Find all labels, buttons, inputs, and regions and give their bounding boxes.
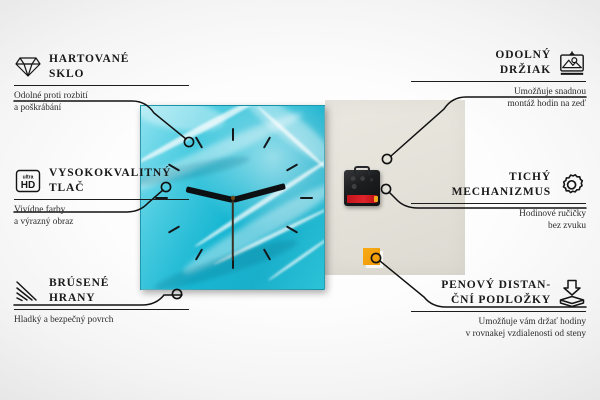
divider	[14, 309, 189, 310]
feature-title-wrap: HARTOVANÉ SKLO	[49, 52, 189, 81]
infographic-canvas: HARTOVANÉ SKLO Odolné proti rozbití a po…	[0, 0, 600, 400]
picture-hanger-icon	[558, 49, 586, 77]
feature-polished-edges: BRÚSENÉ HRANY Hladký a bezpečný povrch	[14, 276, 189, 326]
feature-title-line-1: ODOLNÝ	[411, 48, 551, 63]
feature-title-line-2: MECHANIZMUS	[411, 185, 551, 200]
feature-foam-spacers: PENOVÝ DISTAN- ČNÍ PODLOŽKY Umožňuje vám…	[411, 278, 586, 340]
feature-subtitle-line-2: montáž hodin na zeď	[411, 98, 586, 110]
feature-subtitle-line-1: Hladký a bezpečný povrch	[14, 314, 189, 326]
divider	[411, 81, 586, 82]
feature-title-line-2: DRŽIAK	[411, 63, 551, 78]
feature-subtitle-line-2: a výrazný obraz	[14, 216, 189, 228]
divider	[411, 311, 586, 312]
feature-title-wrap: BRÚSENÉ HRANY	[49, 276, 189, 305]
feature-subtitle-line-2: a poškrábání	[14, 102, 189, 114]
feature-title-line-1: BRÚSENÉ	[49, 276, 189, 291]
feature-title-line-1: HARTOVANÉ	[49, 52, 189, 67]
feature-subtitle-line-2: v rovnakej vzdialenosti od steny	[411, 328, 586, 340]
feature-title-line-2: ČNÍ PODLOŽKY	[411, 293, 551, 308]
feature-header: PENOVÝ DISTAN- ČNÍ PODLOŽKY	[411, 278, 586, 307]
divider	[14, 85, 189, 86]
feature-subtitle-line-1: Hodinové ručičky	[411, 208, 586, 220]
feature-header: BRÚSENÉ HRANY	[14, 276, 189, 305]
ultra-hd-large-text: HD	[21, 180, 35, 191]
feature-title-line-2: SKLO	[49, 67, 189, 82]
feature-title-line-2: TLAČ	[49, 181, 189, 196]
feature-title-line-1: PENOVÝ DISTAN-	[411, 278, 551, 293]
feature-subtitle-line-1: Odolné proti rozbití	[14, 90, 189, 102]
feature-title-line-2: HRANY	[49, 291, 189, 306]
ultra-hd-icon: ultra HD	[14, 167, 42, 195]
feature-hardened-glass: HARTOVANÉ SKLO Odolné proti rozbití a po…	[14, 52, 189, 114]
feature-durable-hanger: ODOLNÝ DRŽIAK Umožňuje snadnou montáž ho…	[411, 48, 586, 110]
diamond-icon	[14, 53, 42, 81]
feature-subtitle-line-1: Vivídne farby	[14, 204, 189, 216]
feature-title-wrap: VYSOKOKVALITNÝ TLAČ	[49, 166, 189, 195]
feature-title-wrap: TICHÝ MECHANIZMUS	[411, 170, 551, 199]
feature-header: ODOLNÝ DRŽIAK	[411, 48, 586, 77]
feature-title-line-1: TICHÝ	[411, 170, 551, 185]
feature-subtitle-line-2: bez zvuku	[411, 220, 586, 232]
feature-header: TICHÝ MECHANIZMUS	[411, 170, 586, 199]
gear-icon	[558, 171, 586, 199]
feature-subtitle-line-1: Umožňuje snadnou	[411, 86, 586, 98]
feature-header: HARTOVANÉ SKLO	[14, 52, 189, 81]
divider	[14, 199, 189, 200]
feature-subtitle-line-1: Umožňuje vám držať hodiny	[411, 316, 586, 328]
polished-edges-icon	[14, 277, 42, 305]
feature-header: ultra HD VYSOKOKVALITNÝ TLAČ	[14, 166, 189, 195]
divider	[411, 203, 586, 204]
feature-title-line-1: VYSOKOKVALITNÝ	[49, 166, 189, 181]
feature-title-wrap: PENOVÝ DISTAN- ČNÍ PODLOŽKY	[411, 278, 551, 307]
feature-title-wrap: ODOLNÝ DRŽIAK	[411, 48, 551, 77]
foam-pad-arrow-icon	[558, 279, 586, 307]
feature-high-quality-print: ultra HD VYSOKOKVALITNÝ TLAČ Vivídne far…	[14, 166, 189, 228]
feature-silent-mechanism: TICHÝ MECHANIZMUS Hodinové ručičky bez z…	[411, 170, 586, 232]
